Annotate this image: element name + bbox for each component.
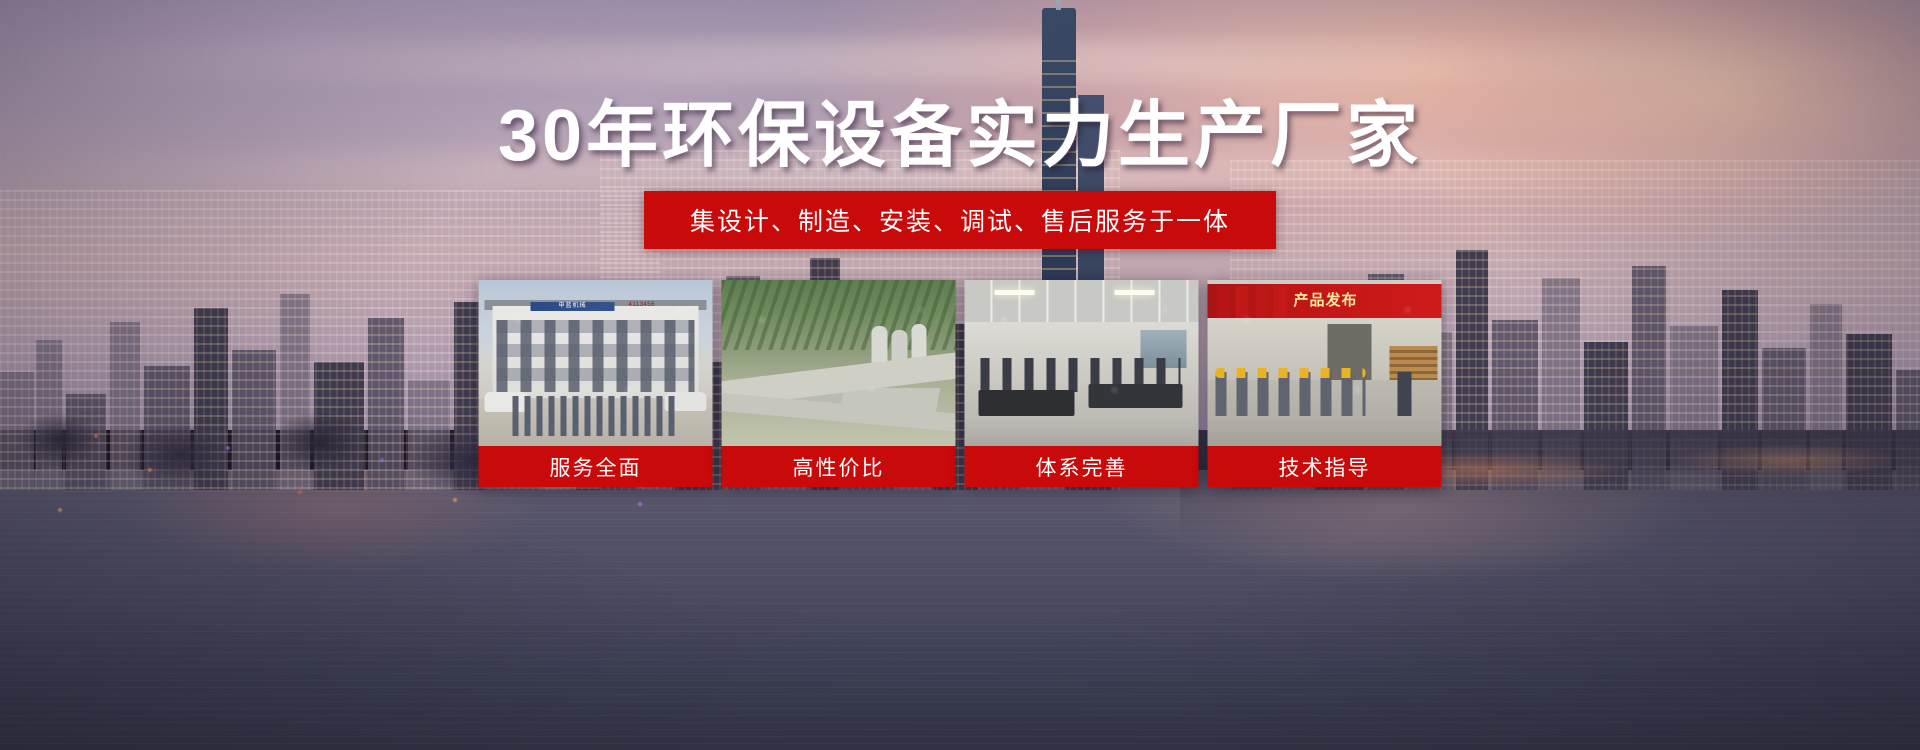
ceiling-light [995, 290, 1035, 295]
card-caption: 技术指导 [1208, 446, 1442, 487]
card-caption: 服务全面 [479, 446, 713, 487]
office-desk [1089, 384, 1183, 408]
supervisor-figure [1398, 372, 1412, 420]
building-windows [497, 320, 695, 392]
hero-banner: 30年环保设备实力生产厂家 集设计、制造、安装、调试、售后服务于一体 申蓝机械 … [0, 0, 1920, 750]
factory-banner-text: 产品发布 [1294, 288, 1434, 314]
card-photo-factory-workers: 产品发布 [1208, 280, 1442, 446]
feature-card[interactable]: 体系完善 [965, 280, 1199, 487]
safety-helmets [1216, 368, 1366, 378]
banner-headline: 30年环保设备实力生产厂家 [0, 100, 1920, 172]
company-sign: 申蓝机械 [531, 302, 615, 311]
feature-card[interactable]: 产品发布 技术指导 [1208, 280, 1442, 487]
ceiling-light [1115, 290, 1155, 295]
sign-phone-number: 4113456 [629, 302, 655, 308]
banner-subtitle-bar: 集设计、制造、安装、调试、售后服务于一体 [644, 191, 1276, 249]
feature-card[interactable]: 高性价比 [722, 280, 956, 487]
card-caption: 体系完善 [965, 446, 1199, 487]
ceiling-panels [965, 280, 1199, 322]
banner-content: 30年环保设备实力生产厂家 集设计、制造、安装、调试、售后服务于一体 申蓝机械 … [0, 0, 1920, 750]
card-photo-office-building: 申蓝机械 4113456 [479, 280, 713, 446]
card-photo-office-interior [965, 280, 1199, 446]
feature-card-list: 申蓝机械 4113456 服务全面 [479, 280, 1442, 487]
staff-lineup [513, 396, 679, 436]
workshop-floor [1208, 416, 1442, 446]
office-floor [965, 416, 1199, 446]
office-desk [979, 390, 1075, 416]
feature-card[interactable]: 申蓝机械 4113456 服务全面 [479, 280, 713, 487]
card-photo-plant-aerial [722, 280, 956, 446]
card-caption: 高性价比 [722, 446, 956, 487]
worker-group [1216, 372, 1366, 418]
